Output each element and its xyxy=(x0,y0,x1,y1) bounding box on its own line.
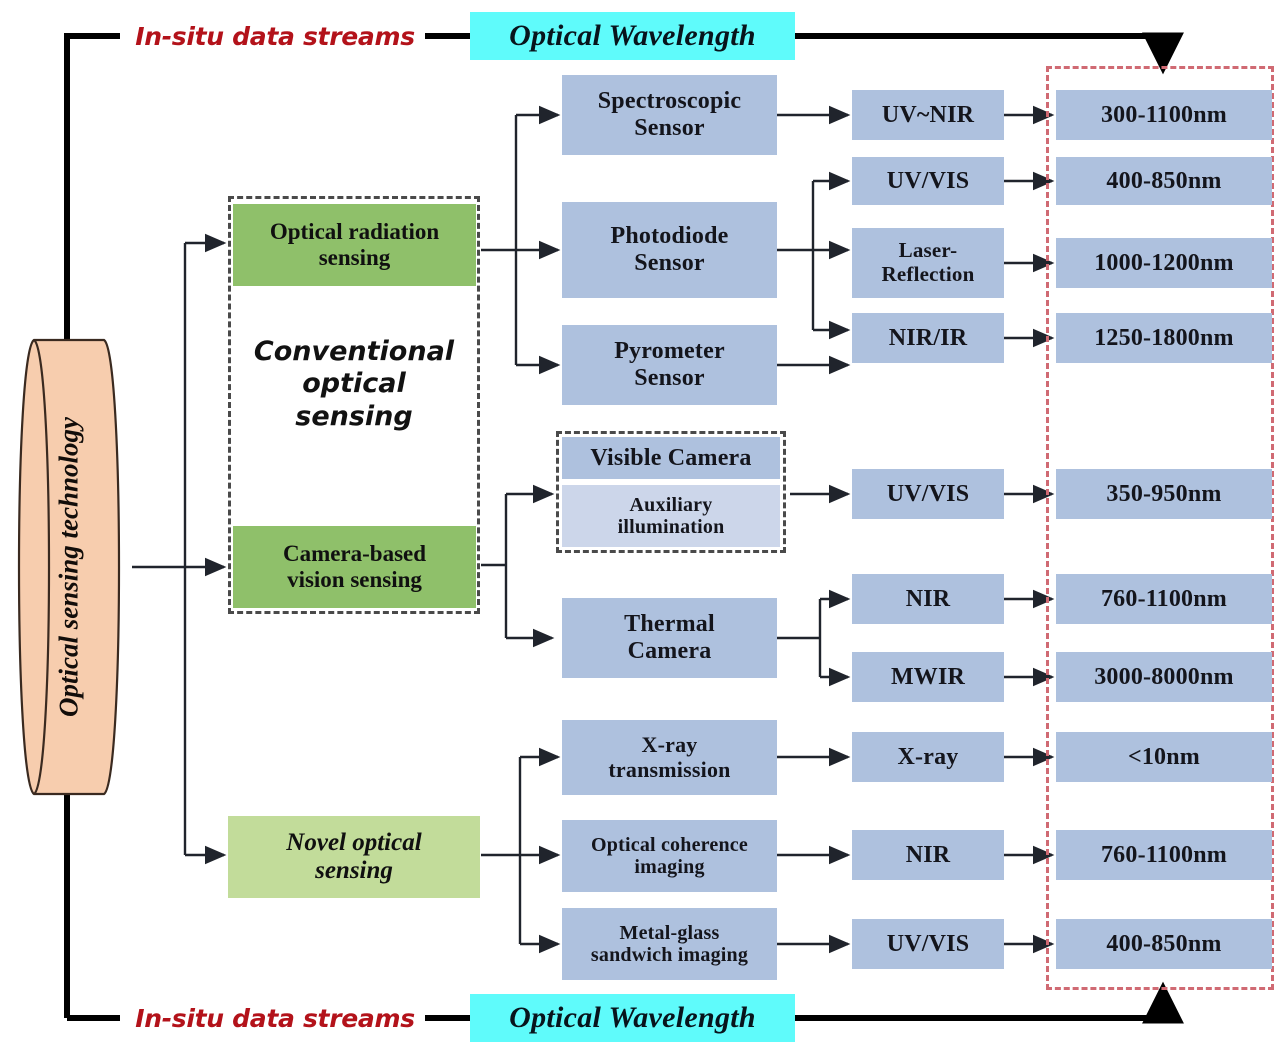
wavelength-lt-10nm-label: <10nm xyxy=(1128,744,1200,771)
node-optical-coherence-imaging[interactable]: Optical coherence imaging xyxy=(562,820,777,892)
spectroscopic-sensor-line-2: Sensor xyxy=(634,115,705,142)
band-uv-vis-3-label: UV/VIS xyxy=(887,931,970,958)
band-mwir[interactable]: MWIR xyxy=(852,652,1004,702)
band-nir-1[interactable]: NIR xyxy=(852,574,1004,624)
node-x-ray-transmission[interactable]: X-ray transmission xyxy=(562,720,777,795)
thermal-camera-line-2: Camera xyxy=(628,638,712,665)
node-thermal-camera[interactable]: Thermal Camera xyxy=(562,598,777,678)
wavelength-3000-8000nm[interactable]: 3000-8000nm xyxy=(1056,652,1272,702)
wavelength-400-850nm-b[interactable]: 400-850nm xyxy=(1056,919,1272,969)
band-uv-vis-1[interactable]: UV/VIS xyxy=(852,157,1004,205)
bottom-optical-wavelength-banner: Optical Wavelength xyxy=(470,994,795,1042)
node-metal-glass-sandwich-imaging[interactable]: Metal-glass sandwich imaging xyxy=(562,908,777,980)
wavelength-350-950nm[interactable]: 350-950nm xyxy=(1056,469,1272,519)
category-novel-optical-sensing[interactable]: Novel optical sensing xyxy=(228,816,480,898)
photodiode-sensor-line-2: Sensor xyxy=(634,250,705,277)
band-uv-vis-3[interactable]: UV/VIS xyxy=(852,919,1004,969)
spectroscopic-sensor-line-1: Spectroscopic xyxy=(598,88,741,115)
optical-radiation-sensing-line-2: sensing xyxy=(319,245,391,271)
wavelength-300-1100nm-label: 300-1100nm xyxy=(1101,102,1227,129)
pyrometer-sensor-line-2: Sensor xyxy=(634,365,705,392)
band-uv-vis-1-label: UV/VIS xyxy=(887,168,970,195)
wavelength-400-850nm-a-label: 400-850nm xyxy=(1106,168,1221,195)
conventional-line-3: sensing xyxy=(232,401,476,433)
band-xray-label: X-ray xyxy=(898,744,959,771)
top-optical-wavelength-banner: Optical Wavelength xyxy=(470,12,795,60)
visible-camera-label: Visible Camera xyxy=(590,445,751,472)
band-nir-ir[interactable]: NIR/IR xyxy=(852,313,1004,363)
node-auxiliary-illumination[interactable]: Auxiliary illumination xyxy=(562,485,780,547)
wavelength-3000-8000nm-label: 3000-8000nm xyxy=(1094,664,1234,691)
wavelength-lt-10nm[interactable]: <10nm xyxy=(1056,732,1272,782)
conventional-line-1: Conventional xyxy=(232,336,476,368)
band-uv-vis-2[interactable]: UV/VIS xyxy=(852,469,1004,519)
wavelength-1000-1200nm[interactable]: 1000-1200nm xyxy=(1056,238,1272,288)
conventional-optical-sensing-label: Conventional optical sensing xyxy=(232,336,476,433)
x-ray-transmission-line-1: X-ray xyxy=(642,733,698,758)
band-laser-reflection[interactable]: Laser- Reflection xyxy=(852,228,1004,298)
node-visible-camera[interactable]: Visible Camera xyxy=(562,437,780,479)
band-nir-2-label: NIR xyxy=(906,842,951,869)
root-cylinder: Optical sensing technology xyxy=(6,334,132,800)
wavelength-760-1100nm-a[interactable]: 760-1100nm xyxy=(1056,574,1272,624)
novel-optical-sensing-line-1: Novel optical xyxy=(286,829,421,857)
flowchart-canvas: In-situ data streams Optical Wavelength … xyxy=(0,0,1280,1058)
band-xray[interactable]: X-ray xyxy=(852,732,1004,782)
metal-glass-sandwich-imaging-line-1: Metal-glass xyxy=(620,922,720,944)
band-mwir-label: MWIR xyxy=(891,664,965,691)
wavelength-1250-1800nm[interactable]: 1250-1800nm xyxy=(1056,313,1272,363)
band-uv-nir-label: UV~NIR xyxy=(882,102,974,129)
wavelength-760-1100nm-b[interactable]: 760-1100nm xyxy=(1056,830,1272,880)
wavelength-400-850nm-a[interactable]: 400-850nm xyxy=(1056,157,1272,205)
band-uv-nir[interactable]: UV~NIR xyxy=(852,90,1004,140)
bottom-in-situ-data-streams-label: In-situ data streams xyxy=(122,998,428,1038)
node-pyrometer-sensor[interactable]: Pyrometer Sensor xyxy=(562,325,777,405)
wavelength-1250-1800nm-label: 1250-1800nm xyxy=(1094,325,1234,352)
conventional-line-2: optical xyxy=(232,368,476,400)
category-optical-radiation-sensing[interactable]: Optical radiation sensing xyxy=(233,204,476,286)
thermal-camera-line-1: Thermal xyxy=(624,611,715,638)
node-photodiode-sensor[interactable]: Photodiode Sensor xyxy=(562,202,777,298)
band-laser-reflection-line-1: Laser- xyxy=(899,239,958,263)
top-in-situ-data-streams-label: In-situ data streams xyxy=(122,16,428,56)
auxiliary-illumination-line-2: illumination xyxy=(618,516,725,538)
node-spectroscopic-sensor[interactable]: Spectroscopic Sensor xyxy=(562,75,777,155)
photodiode-sensor-line-1: Photodiode xyxy=(610,223,728,250)
band-nir-2[interactable]: NIR xyxy=(852,830,1004,880)
optical-coherence-imaging-line-1: Optical coherence xyxy=(591,834,748,856)
wavelength-1000-1200nm-label: 1000-1200nm xyxy=(1094,250,1234,277)
band-nir-ir-label: NIR/IR xyxy=(889,325,968,352)
wavelength-300-1100nm[interactable]: 300-1100nm xyxy=(1056,90,1272,140)
wavelength-400-850nm-b-label: 400-850nm xyxy=(1106,931,1221,958)
auxiliary-illumination-line-1: Auxiliary xyxy=(630,494,713,516)
wavelength-760-1100nm-a-label: 760-1100nm xyxy=(1101,586,1227,613)
novel-optical-sensing-line-2: sensing xyxy=(315,857,393,885)
x-ray-transmission-line-2: transmission xyxy=(608,758,730,783)
camera-based-vision-sensing-line-2: vision sensing xyxy=(287,567,422,593)
metal-glass-sandwich-imaging-line-2: sandwich imaging xyxy=(591,944,748,966)
optical-coherence-imaging-line-2: imaging xyxy=(634,856,704,878)
wavelength-760-1100nm-b-label: 760-1100nm xyxy=(1101,842,1227,869)
band-laser-reflection-line-2: Reflection xyxy=(882,263,975,287)
band-uv-vis-2-label: UV/VIS xyxy=(887,481,970,508)
optical-radiation-sensing-line-1: Optical radiation xyxy=(270,219,439,245)
root-cylinder-label: Optical sensing technology xyxy=(54,417,85,717)
band-nir-1-label: NIR xyxy=(906,586,951,613)
pyrometer-sensor-line-1: Pyrometer xyxy=(614,338,725,365)
category-camera-based-vision-sensing[interactable]: Camera-based vision sensing xyxy=(233,526,476,608)
camera-based-vision-sensing-line-1: Camera-based xyxy=(283,541,426,567)
wavelength-350-950nm-label: 350-950nm xyxy=(1106,481,1221,508)
